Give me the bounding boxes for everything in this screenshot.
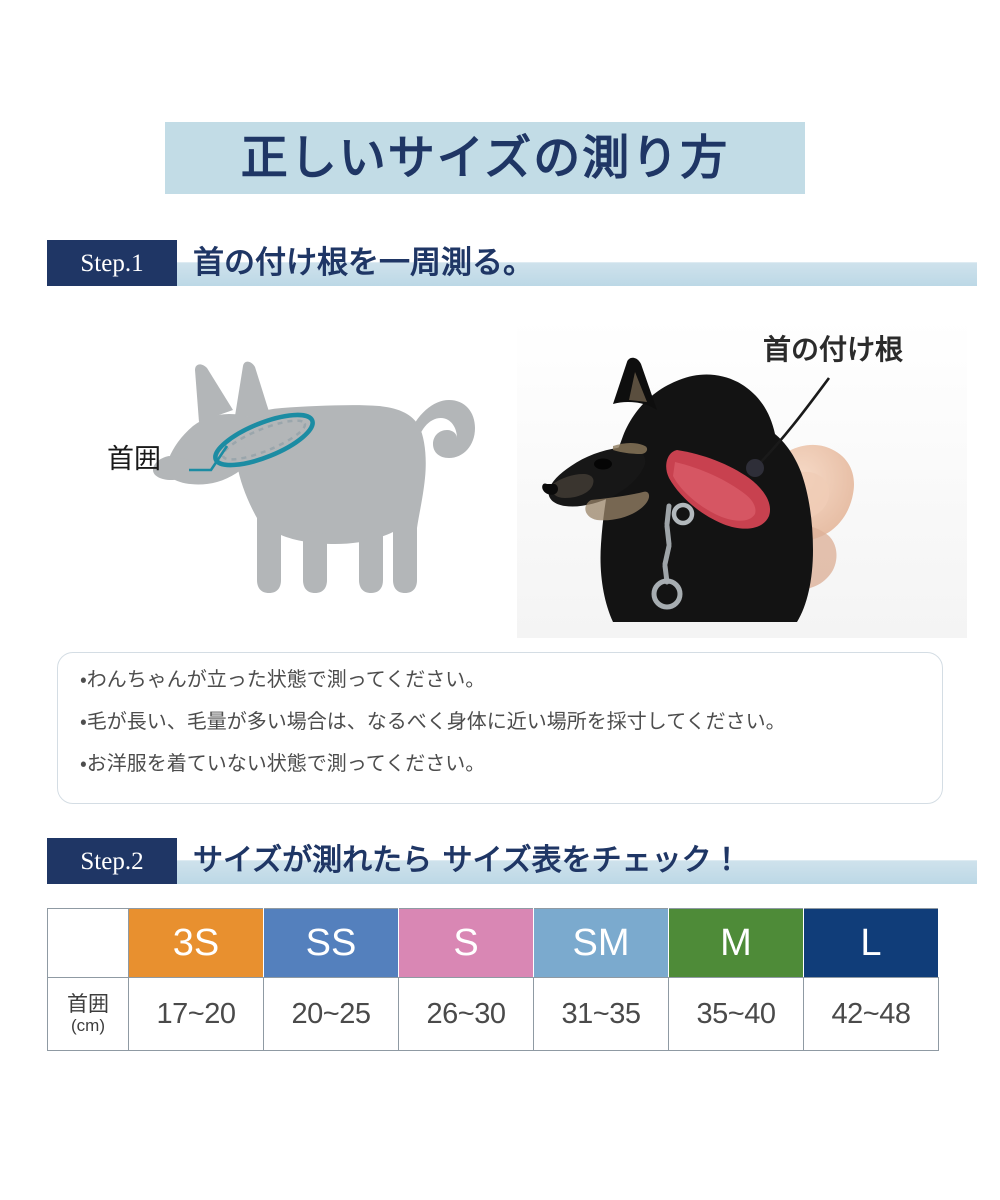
size-header-ss: SS [264, 909, 399, 978]
dog-photo: 首の付け根 [517, 318, 967, 638]
row-label-text: 首囲 [48, 993, 128, 1017]
note-item: ・毛が長い、毛量が多い場合は、なるべく身体に近い場所を採寸してください。 [80, 711, 942, 731]
dog-silhouette-icon [107, 318, 487, 618]
step-1-heading: 首の付け根を一周測る。 [193, 240, 534, 286]
table-row: 首囲 (cm) 17~20 20~25 26~30 31~35 35~40 42… [48, 978, 939, 1051]
step-1-badge: Step.1 [47, 240, 177, 286]
row-label-unit: (cm) [48, 1016, 128, 1035]
size-header-m: M [669, 909, 804, 978]
row-label-neck-circumference: 首囲 (cm) [48, 978, 129, 1051]
page-title-banner: 正しいサイズの測り方 [165, 122, 805, 194]
dog-photo-image [517, 318, 967, 638]
step-2-badge: Step.2 [47, 838, 177, 884]
note-item: ・お洋服を着ていない状態で測ってください。 [80, 753, 942, 773]
size-value-ss: 20~25 [264, 978, 399, 1051]
step-2-heading: サイズが測れたら サイズ表をチェック！ [193, 838, 742, 884]
table-corner-cell [48, 909, 129, 978]
size-value-s: 26~30 [399, 978, 534, 1051]
size-header-sm: SM [534, 909, 669, 978]
size-chart-table: 3S SS S SM M L 首囲 (cm) 17~20 20~25 26~30… [47, 908, 939, 1051]
neck-base-label: 首の付け根 [763, 336, 903, 364]
size-header-3s: 3S [129, 909, 264, 978]
measurement-notes-box: ・わんちゃんが立った状態で測ってください。 ・毛が長い、毛量が多い場合は、なるべ… [57, 652, 943, 804]
page-title: 正しいサイズの測り方 [241, 135, 730, 182]
size-value-3s: 17~20 [129, 978, 264, 1051]
dog-silhouette-diagram: 首囲 [107, 318, 487, 618]
neck-circumference-label: 首囲 [107, 446, 161, 473]
step-1-badge-label: Step.1 [80, 251, 143, 276]
size-header-l: L [804, 909, 939, 978]
table-header-row: 3S SS S SM M L [48, 909, 939, 978]
size-value-m: 35~40 [669, 978, 804, 1051]
size-value-sm: 31~35 [534, 978, 669, 1051]
measurement-illustration-area: 首囲 [47, 318, 968, 638]
step-2-badge-label: Step.2 [80, 849, 143, 874]
size-header-s: S [399, 909, 534, 978]
size-value-l: 42~48 [804, 978, 939, 1051]
neck-base-marker-dot [746, 459, 764, 477]
note-item: ・わんちゃんが立った状態で測ってください。 [80, 669, 942, 689]
